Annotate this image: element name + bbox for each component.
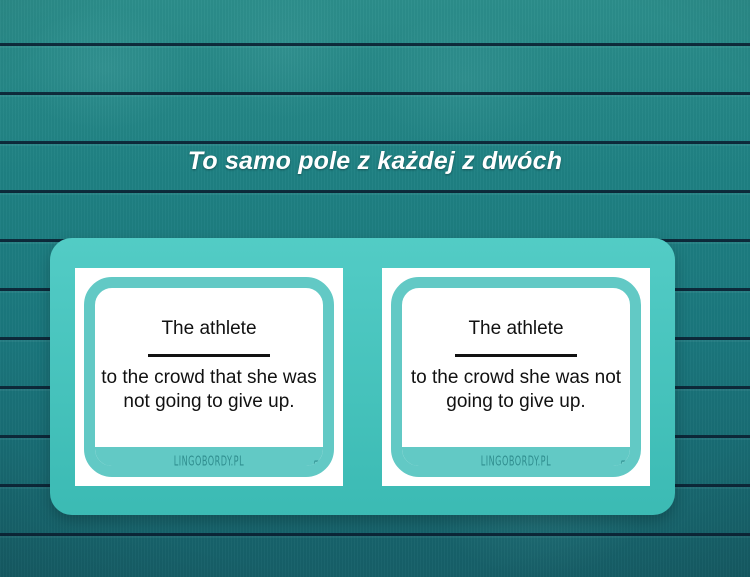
brand-label: LINGOBORDY.PL — [174, 454, 244, 469]
flashcard-footer-band: LINGOBORDY.PL 5 — [391, 447, 641, 477]
flashcard-footer-band: LINGOBORDY.PL 5 — [84, 447, 334, 477]
flashcard-top-line: The athlete — [408, 317, 624, 341]
brand-label: LINGOBORDY.PL — [481, 454, 551, 469]
fill-in-blank-rule — [148, 354, 270, 357]
flashcard-with-that[interactable]: The athlete to the crowd that she was no… — [75, 268, 343, 486]
page-number-mark: 5 — [313, 459, 321, 474]
flashcard-rest-text: to the crowd she was not going to give u… — [408, 366, 624, 414]
flashcard-top-line: The athlete — [101, 317, 317, 341]
title-line-1: To samo pole z każdej z dwóch — [0, 146, 750, 177]
slide-canvas: To samo pole z każdej z dwóch wersji pla… — [0, 0, 750, 577]
cards-panel: The athlete to the crowd that she was no… — [50, 238, 675, 515]
flashcard-rest-text: to the crowd that she was not going to g… — [101, 366, 317, 414]
flashcard-inner: The athlete to the crowd she was not goi… — [391, 277, 641, 477]
flashcard-text: The athlete to the crowd that she was no… — [95, 317, 323, 436]
flashcard-without-that[interactable]: The athlete to the crowd she was not goi… — [382, 268, 650, 486]
fill-in-blank-rule — [455, 354, 577, 357]
flashcard-inner: The athlete to the crowd that she was no… — [84, 277, 334, 477]
card-row: The athlete to the crowd that she was no… — [50, 238, 675, 515]
page-number-mark: 5 — [620, 459, 628, 474]
flashcard-text: The athlete to the crowd she was not goi… — [402, 317, 630, 436]
